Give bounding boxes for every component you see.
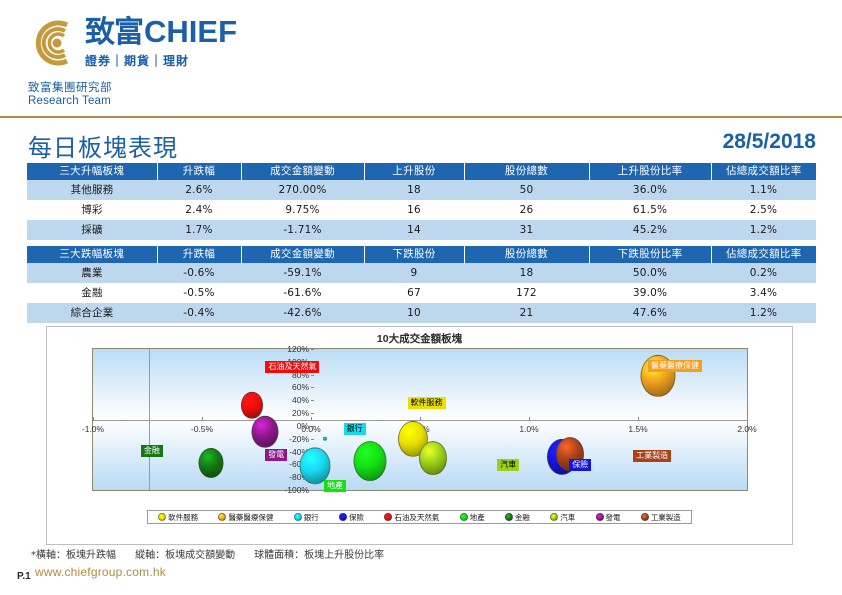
legend-item[interactable]: 金融	[505, 512, 530, 523]
legend-color-swatch-icon	[384, 513, 392, 521]
col-header-1: 升跌幅	[157, 163, 241, 180]
bubble-data-label: 石油及天然氣	[265, 361, 319, 373]
cell-r1-c4: 172	[464, 283, 589, 303]
legend-color-swatch-icon	[596, 513, 604, 521]
cell-r2-c3: 10	[364, 303, 464, 323]
y-axis-tick-label: -100%	[284, 485, 309, 495]
col-header-0: 三大跌幅板塊	[27, 246, 157, 263]
cell-r2-c5: 47.6%	[589, 303, 711, 323]
legend-label: 銀行	[304, 512, 319, 523]
y-axis-tick-label: 20%	[292, 408, 309, 418]
page-title: 每日板塊表現	[28, 128, 178, 163]
chart-bubble[interactable]	[252, 415, 279, 448]
cell-r2-c6: 1.2%	[711, 220, 816, 240]
cell-r0-c6: 1.1%	[711, 180, 816, 200]
bubble-data-label: 地產	[324, 480, 346, 492]
chart-bubble[interactable]	[323, 437, 327, 441]
chart-bubble[interactable]	[353, 441, 386, 481]
x-axis-tick-label: 2.0%	[737, 424, 756, 434]
col-header-2: 成交金額變動	[241, 163, 364, 180]
x-axis-tick-mark	[420, 417, 421, 420]
cell-r2-c1: -0.4%	[157, 303, 241, 323]
chart-bubble[interactable]	[300, 447, 331, 484]
table-row: 綜合企業-0.4%-42.6%102147.6%1.2%	[27, 303, 816, 323]
cell-r1-c6: 3.4%	[711, 283, 816, 303]
legend-label: 發電	[606, 512, 621, 523]
cell-r2-c2: -42.6%	[241, 303, 364, 323]
x-axis-tick-mark	[202, 417, 203, 420]
cell-r1-c0: 博彩	[27, 200, 157, 220]
cell-r2-c1: 1.7%	[157, 220, 241, 240]
legend-label: 地產	[470, 512, 485, 523]
x-axis-tick-label: -0.5%	[191, 424, 213, 434]
legend-color-swatch-icon	[550, 513, 558, 521]
y-axis-tick-mark	[311, 400, 314, 401]
x-axis-tick-mark	[311, 417, 312, 420]
legend-item[interactable]: 銀行	[294, 512, 319, 523]
legend-item[interactable]: 地產	[460, 512, 485, 523]
legend-item[interactable]: 醫藥醫療保健	[218, 512, 273, 523]
cell-r2-c0: 採礦	[27, 220, 157, 240]
x-axis-line	[93, 420, 747, 421]
legend-label: 工業製造	[651, 512, 681, 523]
chart-axis-note: *橫軸：板塊升跌幅 縱軸：板塊成交額變動 球體面積：板塊上升股份比率	[31, 546, 384, 561]
bubble-data-label: 軟件服務	[408, 397, 446, 409]
bubble-data-label: 醫藥醫療保健	[648, 360, 702, 372]
legend-color-swatch-icon	[460, 513, 468, 521]
x-axis-tick-mark	[529, 417, 530, 420]
legend-item[interactable]: 保險	[339, 512, 364, 523]
legend-item[interactable]: 發電	[596, 512, 621, 523]
cell-r2-c3: 14	[364, 220, 464, 240]
y-axis-tick-mark	[311, 490, 314, 491]
col-header-2: 成交金額變動	[241, 246, 364, 263]
col-header-5: 下跌股份比率	[589, 246, 711, 263]
bubble-data-label: 發電	[265, 449, 287, 461]
col-header-3: 下跌股份	[364, 246, 464, 263]
cell-r0-c3: 18	[364, 180, 464, 200]
cell-r0-c3: 9	[364, 263, 464, 283]
legend-item[interactable]: 工業製造	[641, 512, 681, 523]
y-axis-tick-label: 40%	[292, 395, 309, 405]
chart-bubble[interactable]	[241, 392, 263, 418]
logo-tagline: 證券｜期貨｜理財	[85, 52, 237, 69]
col-header-4: 股份總數	[464, 163, 589, 180]
table-row: 其他服務2.6%270.00%185036.0%1.1%	[27, 180, 816, 200]
x-axis-tick-label: -1.0%	[82, 424, 104, 434]
bubble-chart: 10大成交金額板塊 120%100%80%60%40%20%0%-20%-40%…	[46, 326, 793, 545]
table-header-row: 三大跌幅板塊升跌幅成交金額變動下跌股份股份總數下跌股份比率佔總成交額比率	[27, 246, 816, 263]
y-axis-tick-mark	[311, 413, 314, 414]
legend-color-swatch-icon	[218, 513, 226, 521]
y-axis-line	[149, 349, 150, 490]
legend-item[interactable]: 石油及天然氣	[384, 512, 439, 523]
report-date: 28/5/2018	[723, 130, 816, 154]
x-axis-tick-mark	[747, 417, 748, 420]
x-axis-tick-mark	[638, 417, 639, 420]
legend-label: 石油及天然氣	[394, 512, 439, 523]
cell-r1-c3: 67	[364, 283, 464, 303]
cell-r0-c6: 0.2%	[711, 263, 816, 283]
x-axis-tick-mark	[93, 417, 94, 420]
chart-legend: 軟件服務醫藥醫療保健銀行保險石油及天然氣地產金融汽車發電工業製造	[147, 510, 692, 524]
chart-plot-area: 120%100%80%60%40%20%0%-20%-40%-60%-80%-1…	[92, 348, 748, 491]
legend-label: 醫藥醫療保健	[228, 512, 273, 523]
top-losers-table: 三大跌幅板塊升跌幅成交金額變動下跌股份股份總數下跌股份比率佔總成交額比率 農業-…	[27, 246, 816, 323]
cell-r0-c4: 18	[464, 263, 589, 283]
col-header-0: 三大升幅板塊	[27, 163, 157, 180]
cell-r2-c4: 31	[464, 220, 589, 240]
logo-text-en: CHIEF	[144, 16, 237, 47]
website-url[interactable]: www.chiefgroup.com.hk	[35, 565, 166, 579]
legend-color-swatch-icon	[294, 513, 302, 521]
table-body: 農業-0.6%-59.1%91850.0%0.2%金融-0.5%-61.6%67…	[27, 263, 816, 323]
cell-r0-c5: 50.0%	[589, 263, 711, 283]
cell-r1-c2: -61.6%	[241, 283, 364, 303]
top-gainers-table: 三大升幅板塊升跌幅成交金額變動上升股份股份總數上升股份比率佔總成交額比率 其他服…	[27, 163, 816, 240]
header-divider	[0, 116, 842, 118]
chart-title-text: 10大成交金額板塊	[377, 333, 462, 345]
table-row: 金融-0.5%-61.6%6717239.0%3.4%	[27, 283, 816, 303]
col-header-6: 佔總成交額比率	[711, 246, 816, 263]
legend-item[interactable]: 汽車	[550, 512, 575, 523]
cell-r0-c1: 2.6%	[157, 180, 241, 200]
x-axis-tick-label: 1.5%	[628, 424, 647, 434]
chart-bubble[interactable]	[198, 448, 223, 478]
cell-r0-c4: 50	[464, 180, 589, 200]
legend-color-swatch-icon	[641, 513, 649, 521]
col-header-4: 股份總數	[464, 246, 589, 263]
legend-label: 汽車	[560, 512, 575, 523]
cell-r2-c5: 45.2%	[589, 220, 711, 240]
cell-r1-c1: 2.4%	[157, 200, 241, 220]
bubble-data-label: 工業製造	[633, 450, 671, 462]
cell-r1-c0: 金融	[27, 283, 157, 303]
legend-color-swatch-icon	[339, 513, 347, 521]
cell-r1-c3: 16	[364, 200, 464, 220]
table-row: 博彩2.4%9.75%162661.5%2.5%	[27, 200, 816, 220]
table-row: 農業-0.6%-59.1%91850.0%0.2%	[27, 263, 816, 283]
legend-item[interactable]: 軟件服務	[158, 512, 198, 523]
bubble-data-label: 汽車	[497, 459, 519, 471]
company-logo: 致富 CHIEF 證券｜期貨｜理財	[27, 16, 237, 69]
cell-r2-c2: -1.71%	[241, 220, 364, 240]
y-axis-tick-label: 60%	[292, 382, 309, 392]
cell-r0-c1: -0.6%	[157, 263, 241, 283]
chief-swirl-icon	[27, 17, 79, 69]
cell-r1-c5: 39.0%	[589, 283, 711, 303]
y-axis-tick-label: 120%	[287, 344, 309, 354]
col-header-5: 上升股份比率	[589, 163, 711, 180]
table-header-row: 三大升幅板塊升跌幅成交金額變動上升股份股份總數上升股份比率佔總成交額比率	[27, 163, 816, 180]
legend-color-swatch-icon	[505, 513, 513, 521]
cell-r1-c5: 61.5%	[589, 200, 711, 220]
y-axis-tick-mark	[311, 375, 314, 376]
logo-text-cn: 致富	[85, 18, 143, 48]
department-name-en: Research Team	[28, 95, 111, 107]
cell-r2-c6: 1.2%	[711, 303, 816, 323]
y-axis-tick-label: -20%	[289, 434, 309, 444]
x-axis-tick-label: 0.0%	[301, 424, 320, 434]
cell-r0-c5: 36.0%	[589, 180, 711, 200]
table-row: 採礦1.7%-1.71%143145.2%1.2%	[27, 220, 816, 240]
col-header-6: 佔總成交額比率	[711, 163, 816, 180]
cell-r1-c4: 26	[464, 200, 589, 220]
slide-page: 致富 CHIEF 證券｜期貨｜理財 致富集團研究部 Research Team …	[0, 0, 842, 595]
cell-r0-c2: -59.1%	[241, 263, 364, 283]
chart-bubble[interactable]	[419, 441, 447, 475]
y-axis-tick-mark	[311, 439, 314, 440]
bubble-data-label: 保險	[569, 459, 591, 471]
cell-r0-c0: 農業	[27, 263, 157, 283]
cell-r0-c0: 其他服務	[27, 180, 157, 200]
bubble-data-label: 銀行	[344, 423, 366, 435]
chart-title: 10大成交金額板塊	[47, 331, 792, 346]
legend-color-swatch-icon	[158, 513, 166, 521]
legend-label: 軟件服務	[168, 512, 198, 523]
page-number: P.1	[17, 571, 31, 582]
legend-label: 保險	[349, 512, 364, 523]
col-header-3: 上升股份	[364, 163, 464, 180]
cell-r1-c6: 2.5%	[711, 200, 816, 220]
y-axis-tick-mark	[311, 387, 314, 388]
cell-r1-c2: 9.75%	[241, 200, 364, 220]
department-name-cn: 致富集團研究部	[28, 79, 112, 95]
cell-r2-c0: 綜合企業	[27, 303, 157, 323]
cell-r1-c1: -0.5%	[157, 283, 241, 303]
cell-r2-c4: 21	[464, 303, 589, 323]
bubble-data-label: 金融	[141, 445, 163, 457]
table-body: 其他服務2.6%270.00%185036.0%1.1%博彩2.4%9.75%1…	[27, 180, 816, 240]
col-header-1: 升跌幅	[157, 246, 241, 263]
cell-r0-c2: 270.00%	[241, 180, 364, 200]
y-axis-tick-mark	[311, 349, 314, 350]
x-axis-tick-label: 1.0%	[519, 424, 538, 434]
legend-label: 金融	[515, 512, 530, 523]
